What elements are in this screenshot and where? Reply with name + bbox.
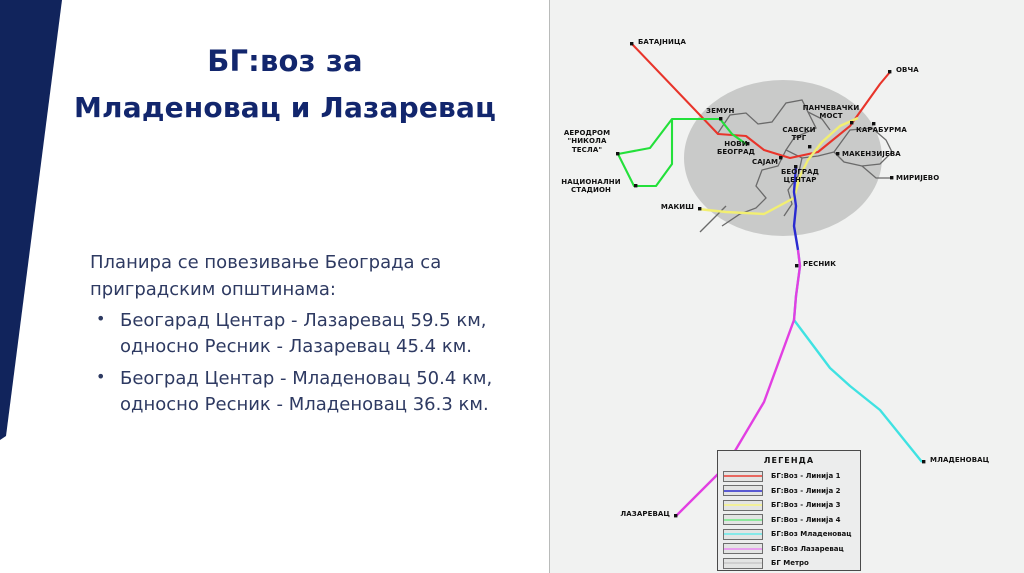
legend-label-metro: БГ Метро (771, 559, 809, 567)
station-marker-aerodrom (616, 152, 619, 155)
title-line-2: Младеновац и Лазаревац (60, 90, 510, 126)
intro-paragraph: Планира се повезивање Београда са пригра… (90, 249, 490, 303)
station-marker-makis (698, 207, 701, 210)
legend-swatch-line-2 (723, 485, 763, 496)
text-column: БГ:воз за Младеновац и Лазаревац Планира… (0, 0, 545, 573)
station-marker-makenzijeva (836, 152, 839, 155)
station-label-mirijevo: МИРИЈЕВО (896, 174, 939, 182)
station-marker-batajnica (630, 42, 633, 45)
legend-swatch-lazarevac (723, 543, 763, 554)
station-label-sajam: САЈАМ (752, 158, 778, 166)
legend-label-lazarevac: БГ:Воз Лазаревац (771, 545, 844, 553)
station-label-savski-trg: САВСКИ ТРГ (778, 126, 820, 143)
station-label-nacionalni-stadion: НАЦИОНАЛНИ СТАДИОН (554, 178, 628, 195)
title-line-1: БГ:воз за (60, 43, 510, 81)
list-item: • Београд Центар - Младеновац 50.4 км, о… (92, 366, 522, 417)
station-label-makenzijeva: МАКЕНЗИЈЕВА (842, 150, 901, 158)
bullet-marker: • (96, 366, 105, 389)
station-label-ovca: ОВЧА (896, 66, 919, 74)
station-label-resnik: РЕСНИК (803, 260, 836, 268)
station-marker-stadion (634, 184, 637, 187)
station-label-batajnica: БАТАЈНИЦА (638, 38, 686, 46)
slide-canvas: БГ:воз за Младеновац и Лазаревац Планира… (0, 0, 1024, 573)
station-label-aerodrom: АЕРОДРОМ "НИКОЛА ТЕСЛА" (558, 129, 616, 154)
map-legend: ЛЕГЕНДА БГ:Воз - Линија 1 БГ:Воз - Линиј… (717, 450, 861, 571)
station-marker-mirijevo (890, 176, 893, 179)
legend-title: ЛЕГЕНДА (723, 456, 855, 465)
station-marker-lazarevac (674, 514, 677, 517)
legend-row: БГ:Воз - Линија 1 (723, 469, 855, 484)
bullet-1-line-2: односно Ресник - Младеновац 36.3 км. (120, 392, 522, 418)
legend-row: БГ:Воз - Линија 4 (723, 513, 855, 528)
station-label-beograd-centar: БЕОГРАД ЦЕНТАР (772, 168, 828, 185)
legend-swatch-line-1 (723, 471, 763, 482)
rail-mladenovac-cyan (794, 250, 922, 462)
station-label-zemun: ЗЕМУН (706, 107, 734, 115)
transit-map-panel: БАТАЈНИЦА ОВЧА АЕРОДРОМ "НИКОЛА ТЕСЛА" З… (549, 0, 1024, 573)
bullet-list: • Беогарад Центар - Лазаревац 59.5 км, о… (92, 308, 522, 424)
legend-row: БГ:Воз Лазаревац (723, 542, 855, 557)
station-marker-ovca (888, 70, 891, 73)
station-marker-karaburma (872, 122, 875, 125)
station-label-novi-beograd: НОВИ БЕОГРАД (712, 140, 760, 157)
page-title: БГ:воз за Младеновац и Лазаревац (60, 43, 510, 126)
legend-row: БГ:Воз - Линија 3 (723, 498, 855, 513)
station-marker-mladenovac (922, 460, 925, 463)
legend-swatch-metro (723, 558, 763, 569)
list-item: • Беогарад Центар - Лазаревац 59.5 км, о… (92, 308, 522, 359)
station-label-mladenovac: МЛАДЕНОВАЦ (930, 456, 989, 464)
station-marker-zemun (719, 117, 722, 120)
station-label-makis: МАКИШ (648, 203, 694, 211)
legend-label-line-2: БГ:Воз - Линија 2 (771, 487, 840, 495)
legend-row: БГ Метро (723, 556, 855, 571)
legend-label-line-4: БГ:Воз - Линија 4 (771, 516, 840, 524)
legend-swatch-line-3 (723, 500, 763, 511)
bullet-marker: • (96, 308, 105, 331)
legend-swatch-mladenovac (723, 529, 763, 540)
bullet-0-line-2: односно Ресник - Лазаревац 45.4 км. (120, 334, 522, 360)
legend-swatch-line-4 (723, 514, 763, 525)
station-label-pancevacki-most: ПАНЧЕВАЧКИ МОСТ (802, 104, 860, 121)
bullet-1-line-1: Београд Центар - Младеновац 50.4 км, (120, 366, 522, 392)
legend-label-mladenovac: БГ:Воз Младеновац (771, 530, 851, 538)
station-marker-sajam (779, 156, 782, 159)
station-marker-resnik (795, 264, 798, 267)
station-label-karaburma: КАРАБУРМА (856, 126, 907, 134)
legend-label-line-3: БГ:Воз - Линија 3 (771, 501, 840, 509)
legend-row: БГ:Воз Младеновац (723, 527, 855, 542)
legend-label-line-1: БГ:Воз - Линија 1 (771, 472, 840, 480)
station-marker-savski-trg (808, 145, 811, 148)
bullet-0-line-1: Беогарад Центар - Лазаревац 59.5 км, (120, 308, 522, 334)
station-label-lazarevac: ЛАЗАРЕВАЦ (608, 510, 670, 518)
station-marker-panc-most (850, 121, 853, 124)
legend-row: БГ:Воз - Линија 2 (723, 484, 855, 499)
